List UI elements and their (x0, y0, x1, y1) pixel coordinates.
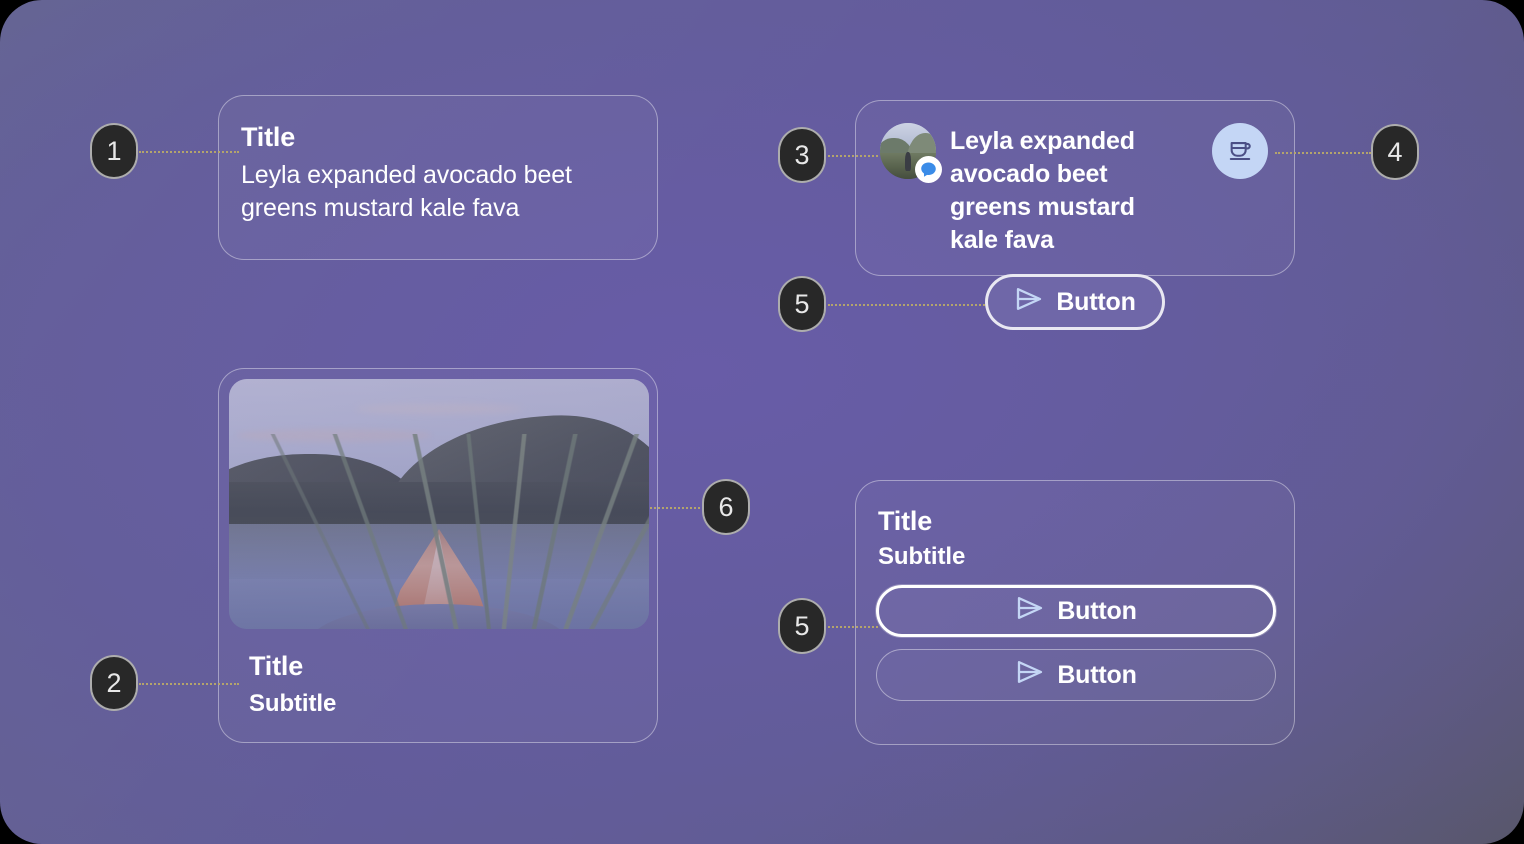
chat-bubble-icon (915, 156, 942, 183)
connector-line-4 (1275, 152, 1371, 154)
send-icon (1014, 286, 1044, 319)
text-card[interactable]: Title Leyla expanded avocado beet greens… (218, 95, 658, 260)
media-card-subtitle: Subtitle (249, 690, 647, 718)
callout-badge-3-number: 3 (794, 140, 809, 171)
callout-badge-4-number: 4 (1387, 137, 1402, 168)
connector-line-1 (139, 151, 239, 153)
thumbnail-overlay-tint (229, 379, 649, 629)
actions-card-subtitle: Subtitle (878, 543, 1274, 571)
actions-card-title: Title (878, 506, 1274, 537)
callout-badge-6[interactable]: 6 (702, 479, 750, 535)
callout-badge-5-actions[interactable]: 5 (778, 598, 826, 654)
callout-badge-1[interactable]: 1 (90, 123, 138, 179)
media-card-thumbnail[interactable] (229, 379, 649, 629)
media-card[interactable]: Title Subtitle (218, 368, 658, 743)
connector-line-6 (650, 507, 708, 509)
text-card-title: Title (241, 122, 631, 153)
callout-badge-5-floating[interactable]: 5 (778, 276, 826, 332)
text-card-body: Leyla expanded avocado beet greens musta… (241, 159, 631, 225)
connector-line-5b (828, 626, 878, 628)
callout-badge-1-number: 1 (106, 136, 121, 167)
connector-line-3 (828, 155, 878, 157)
media-card-title: Title (249, 651, 647, 682)
actions-card-secondary-button-label: Button (1057, 661, 1136, 690)
annotated-ui-mockup: Title Leyla expanded avocado beet greens… (0, 0, 1524, 844)
message-card-text: Leyla expanded avocado beet greens musta… (950, 123, 1185, 275)
media-card-caption: Title Subtitle (229, 629, 647, 718)
floating-button-label: Button (1056, 288, 1135, 317)
coffee-cup-icon[interactable] (1212, 123, 1268, 179)
actions-card[interactable]: Title Subtitle Button (855, 480, 1295, 745)
actions-card-secondary-button[interactable]: Button (876, 649, 1276, 701)
connector-line-2 (139, 683, 239, 685)
callout-badge-4[interactable]: 4 (1371, 124, 1419, 180)
message-card[interactable]: Leyla expanded avocado beet greens musta… (855, 100, 1295, 276)
actions-card-primary-button-label: Button (1057, 597, 1136, 626)
send-icon (1015, 595, 1045, 628)
send-icon (1015, 659, 1045, 692)
callout-badge-6-number: 6 (718, 492, 733, 523)
callout-badge-5-actions-number: 5 (794, 611, 809, 642)
callout-badge-2[interactable]: 2 (90, 655, 138, 711)
connector-line-5a (828, 304, 988, 306)
avatar-person (905, 152, 912, 171)
actions-card-primary-button[interactable]: Button (876, 585, 1276, 637)
callout-badge-2-number: 2 (106, 668, 121, 699)
callout-badge-3[interactable]: 3 (778, 127, 826, 183)
floating-button[interactable]: Button (985, 274, 1165, 330)
callout-badge-5-floating-number: 5 (794, 289, 809, 320)
message-card-avatar[interactable] (880, 123, 936, 179)
